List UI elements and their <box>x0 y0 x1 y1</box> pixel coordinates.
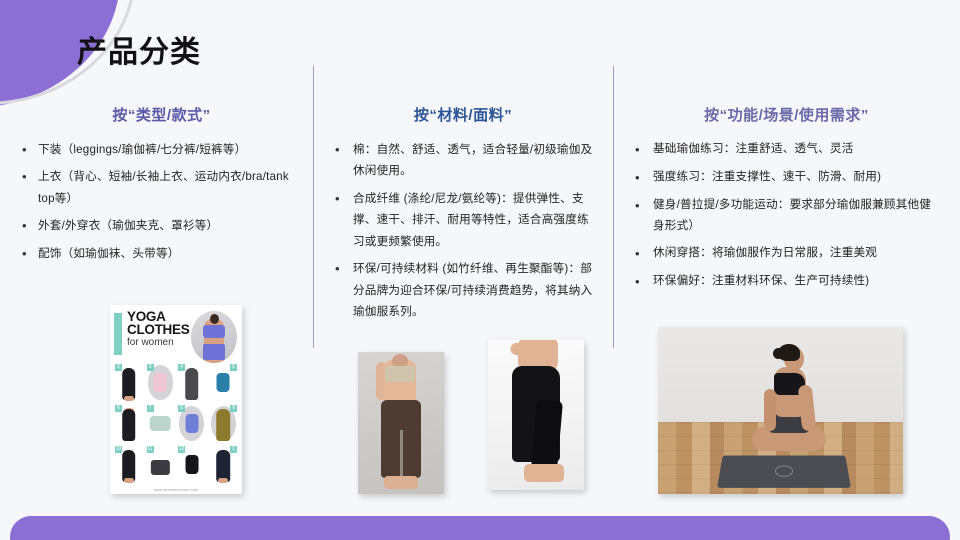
collage-cell: 11 <box>146 445 176 484</box>
list-item: 健身/普拉提/多功能运动：要求部分瑜伽服兼顾其他健身形式） <box>631 195 942 237</box>
sports-bra-shape <box>150 416 171 432</box>
collage-cell: 10 <box>114 445 144 484</box>
collage-accent-bar <box>114 313 122 355</box>
collage-cell: 5 <box>209 363 239 402</box>
collage-cell: 8 <box>177 404 207 443</box>
model-arm-back <box>764 389 776 431</box>
model-feet <box>384 476 418 489</box>
column-3-bullet-list: 基础瑜伽练习：注重舒适、透气、灵活 强度练习：注重支撑性、速干、防滑、耐用) 健… <box>631 139 942 292</box>
tank-shape <box>217 373 230 392</box>
column-1-heading: 按“类型/款式” <box>18 104 295 125</box>
collage-item-number: 9 <box>230 405 237 412</box>
legging-shape <box>185 368 199 399</box>
tank-shape <box>185 455 198 474</box>
skin-shape <box>218 478 228 483</box>
collage-cell: 9 <box>209 404 239 443</box>
legging-shape <box>122 409 136 440</box>
sports-bra <box>385 366 415 382</box>
column-1-bullet-list: 下装（leggings/瑜伽裤/七分裤/短裤等） 上衣（背心、短袖/长袖上衣、运… <box>18 139 295 264</box>
list-item: 下装（leggings/瑜伽裤/七分裤/短裤等） <box>18 139 295 160</box>
collage-item-number: 12 <box>178 446 185 453</box>
collage-item-number: 3 <box>147 364 154 371</box>
collage-cell: 2 <box>114 363 144 402</box>
collage-item-number: 4 <box>178 364 185 371</box>
title-accent-bar <box>58 33 65 72</box>
list-item: 基础瑜伽练习：注重舒适、透气、灵活 <box>631 139 942 160</box>
hero-head-shape <box>210 314 219 324</box>
list-item: 合成纤维 (涤纶/尼龙/氨纶等)：提供弹性、支撑、速干、排汗、耐用等特性，适合高… <box>331 188 595 252</box>
tank-shape <box>185 414 198 433</box>
tank-shape <box>154 373 167 392</box>
list-item: 环保偏好：注重材料环保、生产可持续性) <box>631 271 942 292</box>
collage-item-number: 2 <box>115 364 122 371</box>
list-item: 配饰（如瑜伽袜、头带等） <box>18 243 295 264</box>
collage-cell: 1 <box>209 445 239 484</box>
list-item: 休闲穿搭：将瑜伽服作为日常服，注重美观 <box>631 243 942 264</box>
skin-shape <box>124 396 134 401</box>
slide-canvas: 产品分类 按“类型/款式” 下装（leggings/瑜伽裤/七分裤/短裤等） 上… <box>0 0 960 540</box>
hero-bra-shape <box>203 325 225 338</box>
collage-item-number: 11 <box>147 446 154 453</box>
list-item: 棉：自然、舒适、透气，适合轻量/初级瑜伽及休闲使用。 <box>331 139 595 182</box>
black-leggings-photo <box>488 340 584 490</box>
leg-gap <box>400 430 403 476</box>
collage-item-number: 6 <box>115 405 122 412</box>
page-title: 产品分类 <box>58 33 201 72</box>
model-hair-bun <box>773 348 784 359</box>
list-item: 强度练习：注重支撑性、速干、防滑、耐用) <box>631 167 942 188</box>
collage-product-grid: 2 3 4 5 6 7 <box>114 363 238 484</box>
shorts-shape <box>151 460 169 476</box>
column-3-heading: 按“功能/场景/使用需求” <box>631 104 942 125</box>
hero-shorts-shape <box>203 344 225 360</box>
brown-joggers-photo <box>358 352 444 494</box>
collage-cell: 4 <box>177 363 207 402</box>
yoga-meditation-photo <box>658 327 903 494</box>
collage-caption: www.healthandmore.com <box>110 488 242 492</box>
list-item: 上衣（背心、短袖/长袖上衣、运动内衣/bra/tank top等） <box>18 166 295 209</box>
collage-cell: 12 <box>177 445 207 484</box>
legging-shape <box>216 409 230 440</box>
list-item: 环保/可持续材料 (如竹纤维、再生聚酯等)：部分品牌为迎合环保/可持续消费趋势，… <box>331 258 595 322</box>
bottom-purple-band <box>10 516 950 540</box>
collage-item-number: 7 <box>147 405 154 412</box>
meditating-woman <box>746 345 836 463</box>
collage-hero-image <box>191 311 237 363</box>
mat-logo-icon <box>775 465 793 476</box>
column-2-bullet-list: 棉：自然、舒适、透气，适合轻量/初级瑜伽及休闲使用。 合成纤维 (涤纶/尼龙/氨… <box>331 139 595 323</box>
title-text: 产品分类 <box>77 38 201 68</box>
column-2-heading: 按“材料/面料” <box>331 104 595 125</box>
collage-item-number: 8 <box>178 405 185 412</box>
collage-cell: 3 <box>146 363 176 402</box>
model-feet <box>524 464 564 482</box>
yoga-clothes-collage: YOGA CLOTHES for women 2 3 4 <box>110 305 242 494</box>
collage-cell: 7 <box>146 404 176 443</box>
collage-cell: 6 <box>114 404 144 443</box>
collage-item-number: 1 <box>230 446 237 453</box>
skin-shape <box>124 478 134 483</box>
list-item: 外套/外穿衣（瑜伽夹克、罩衫等） <box>18 215 295 236</box>
collage-item-number: 5 <box>230 364 237 371</box>
collage-item-number: 10 <box>115 446 122 453</box>
